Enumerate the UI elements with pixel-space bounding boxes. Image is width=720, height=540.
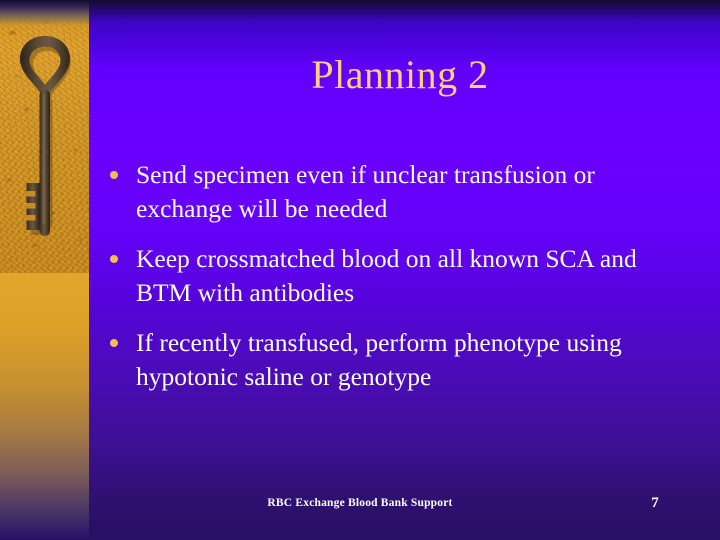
bullet-text: If recently transfused, perform phenotyp… — [136, 326, 694, 394]
antique-key-icon — [14, 32, 76, 262]
bullet-item: If recently transfused, perform phenotyp… — [104, 326, 694, 394]
key-photo — [0, 0, 89, 273]
strip-top-fade — [0, 0, 89, 30]
bullet-dot-icon — [110, 339, 118, 347]
bullet-text: Keep crossmatched blood on all known SCA… — [136, 242, 694, 310]
slide-page-number: 7 — [600, 495, 710, 512]
bullet-item: Keep crossmatched blood on all known SCA… — [104, 242, 694, 310]
left-decoration-strip — [0, 0, 89, 540]
slide: Planning 2 Send specimen even if unclear… — [0, 0, 720, 540]
bullet-text: Send specimen even if unclear transfusio… — [136, 158, 694, 226]
bullet-item: Send specimen even if unclear transfusio… — [104, 158, 694, 226]
bullet-dot-icon — [110, 255, 118, 263]
slide-title: Planning 2 — [100, 52, 700, 98]
bullet-dot-icon — [110, 171, 118, 179]
slide-body: Send specimen even if unclear transfusio… — [104, 158, 694, 410]
